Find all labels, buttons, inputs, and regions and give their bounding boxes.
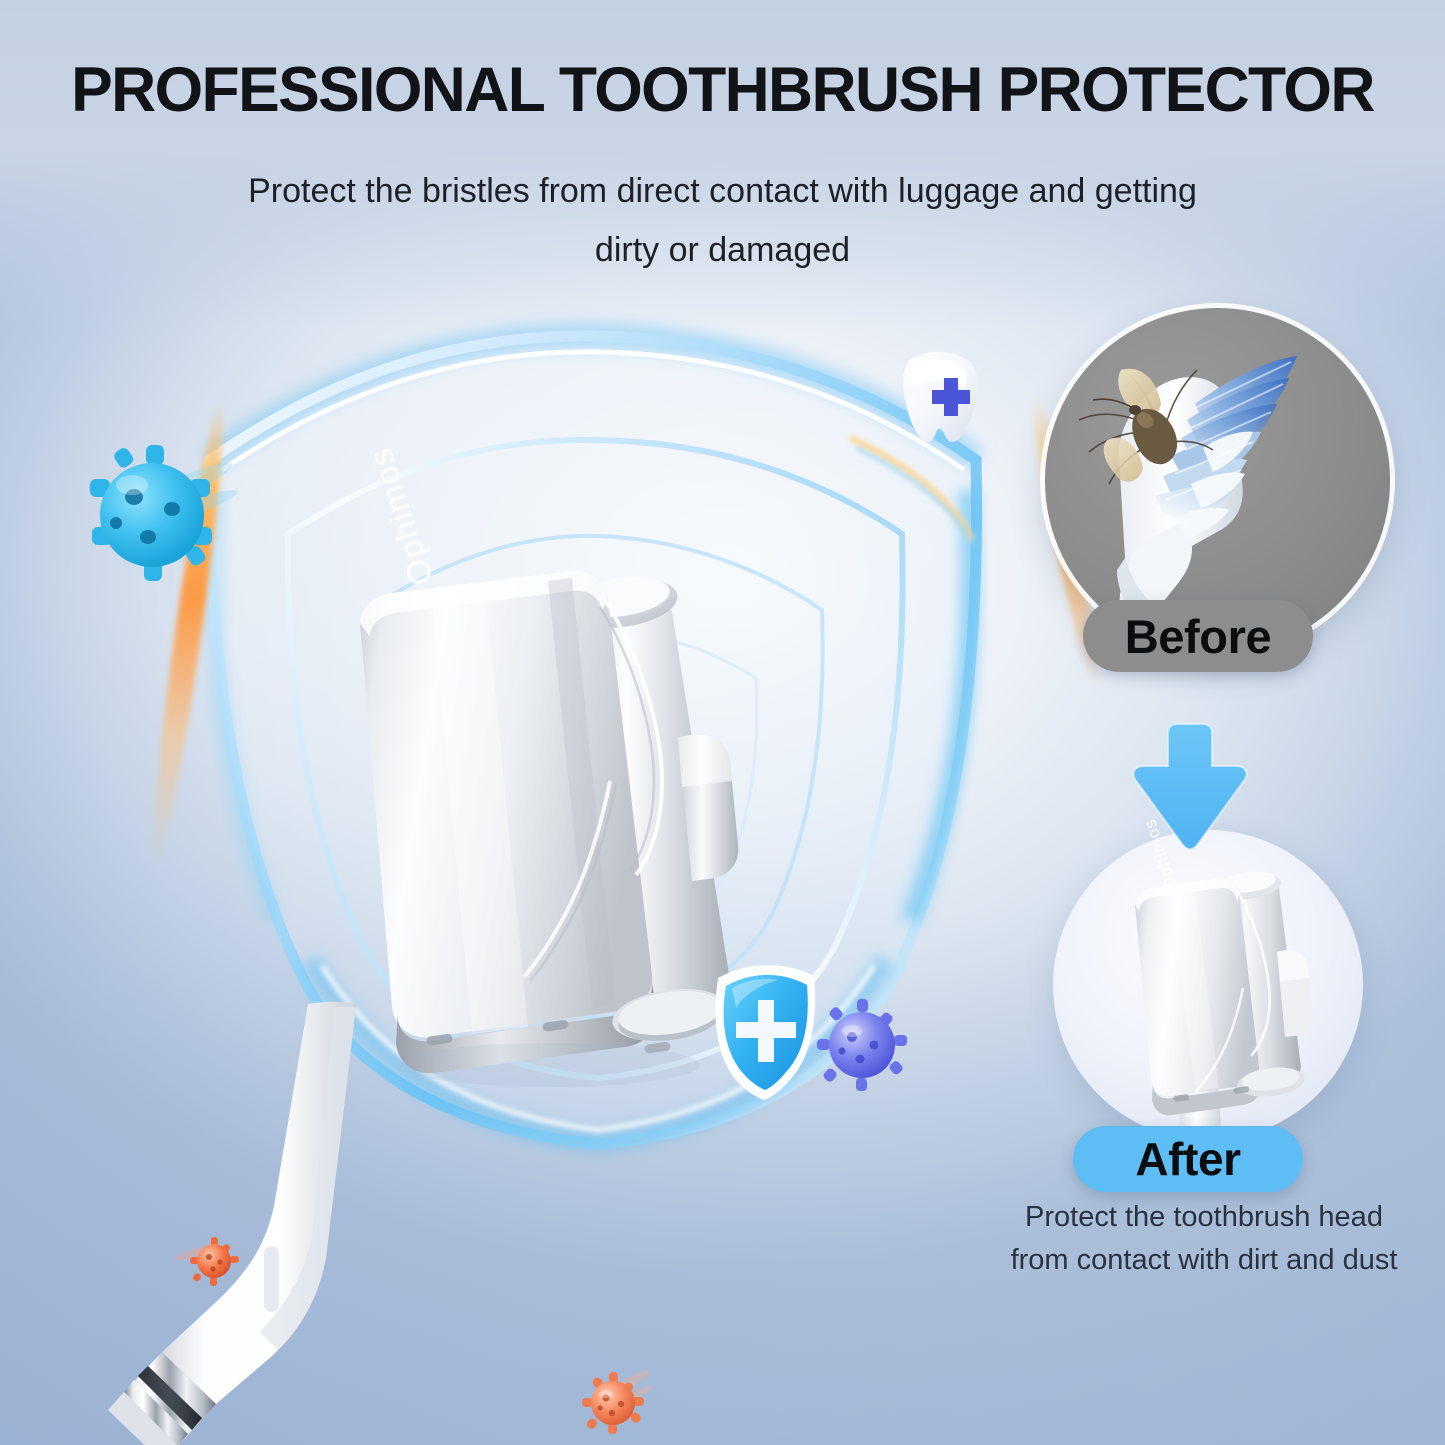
after-image-circle	[1053, 830, 1363, 1140]
subtitle-line-1: Protect the bristles from direct contact…	[248, 172, 1197, 210]
page-subtitle: Protect the bristles from direct contact…	[133, 122, 1313, 279]
after-caption: Protect the toothbrush head from contact…	[960, 1196, 1445, 1282]
virus-particle-orange-2-icon	[580, 1370, 646, 1436]
after-caption-line-2: from contact with dirt and dust	[1011, 1244, 1398, 1276]
subtitle-line-2: dirty or damaged	[595, 231, 850, 269]
virus-particle-purple-icon	[812, 995, 912, 1095]
header: PROFESSIONAL TOOTHBRUSH PROTECTOR Protec…	[0, 0, 1445, 279]
product-marketing-image: PROFESSIONAL TOOTHBRUSH PROTECTOR Protec…	[0, 0, 1445, 1445]
virus-particle-cyan-icon	[72, 435, 232, 595]
virus-particle-orange-1-icon	[188, 1235, 240, 1287]
after-caption-line-1: Protect the toothbrush head	[1025, 1201, 1383, 1233]
down-arrow-icon	[1128, 722, 1252, 854]
before-label-badge: Before	[1083, 600, 1313, 672]
after-label-badge: After	[1073, 1126, 1303, 1192]
page-title: PROFESSIONAL TOOTHBRUSH PROTECTOR	[7, 0, 1438, 122]
tooth-with-cross-icon	[878, 338, 1002, 462]
